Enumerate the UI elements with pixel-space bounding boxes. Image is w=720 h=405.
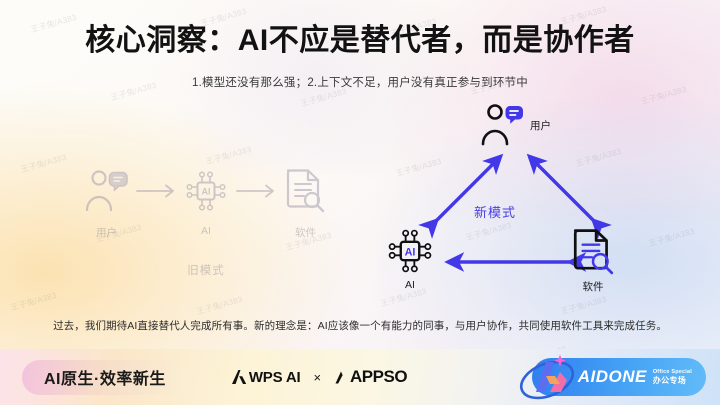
footer-bar: AI原生·效率新生 WPS AI × APPSO [0, 349, 720, 405]
aidone-subtitle: Office Special 办公专场 [653, 369, 692, 385]
footer-logo-group: WPS AI × APPSO [230, 367, 407, 387]
document-search-icon [571, 228, 615, 276]
page-subtitle: 1.模型还没有那么强；2.上下文不足，用户没有真正参与到环节中 [0, 74, 720, 90]
new-node-label: AI [405, 279, 415, 291]
svg-text:AI: AI [202, 187, 211, 197]
wps-mark-icon [230, 369, 247, 385]
footer-slogan-pill: AI原生·效率新生 [22, 360, 188, 395]
footer-slogan-label: AI原生·效率新生 [44, 365, 166, 389]
old-mode-caption: 旧模式 [78, 262, 334, 278]
old-node-label: 软件 [277, 225, 334, 240]
ai-chip-icon: AI [177, 165, 234, 217]
appso-logo: APPSO [334, 367, 407, 387]
page-title: 核心洞察：AI不应是替代者，而是协作者 [0, 23, 720, 59]
new-node-label: 用户 [530, 118, 551, 133]
wps-ai-logo: WPS AI [230, 369, 301, 386]
aidone-badge: AIDONE Office Special 办公专场 [532, 358, 706, 396]
aidone-logo-icon [516, 350, 578, 404]
logo-separator: × [313, 370, 321, 385]
old-node-user: 用户 [78, 165, 135, 240]
new-mode-diagram: 用户 AI AI [375, 100, 665, 310]
arrow-right-icon [135, 165, 177, 217]
new-node-label: 软件 [583, 279, 604, 294]
slide-root: 王子兔/A383 王子兔/A383 王子兔/A383 王子兔/A383 王子兔/… [0, 0, 720, 405]
appso-label: APPSO [350, 367, 407, 387]
old-node-software: 软件 [277, 165, 334, 240]
appso-mark-icon [334, 370, 349, 385]
wps-ai-label: WPS AI [249, 369, 301, 386]
summary-caption: 过去，我们期待AI直接替代人完成所有事。新的理念是：AI应该像一个有能力的同事，… [0, 318, 720, 333]
document-search-icon [277, 165, 334, 217]
old-mode-diagram: 用户 AI [78, 165, 334, 278]
old-node-label: 用户 [78, 225, 135, 240]
user-chat-icon [481, 104, 525, 146]
new-node-user: 用户 [481, 104, 551, 146]
arrow-right-icon [235, 165, 277, 217]
aidone-subtitle-cn: 办公专场 [653, 376, 692, 385]
user-chat-icon [78, 165, 135, 217]
new-mode-caption: 新模式 [474, 202, 516, 221]
old-node-label: AI [177, 225, 234, 237]
aidone-wordmark: AIDONE [578, 367, 647, 387]
old-mode-flow: 用户 AI [78, 165, 334, 240]
svg-text:AI: AI [405, 246, 416, 258]
old-node-ai: AI AI [177, 165, 234, 237]
ai-chip-icon: AI [385, 226, 435, 276]
new-node-ai: AI AI [385, 226, 435, 291]
new-node-software: 软件 [571, 228, 615, 294]
